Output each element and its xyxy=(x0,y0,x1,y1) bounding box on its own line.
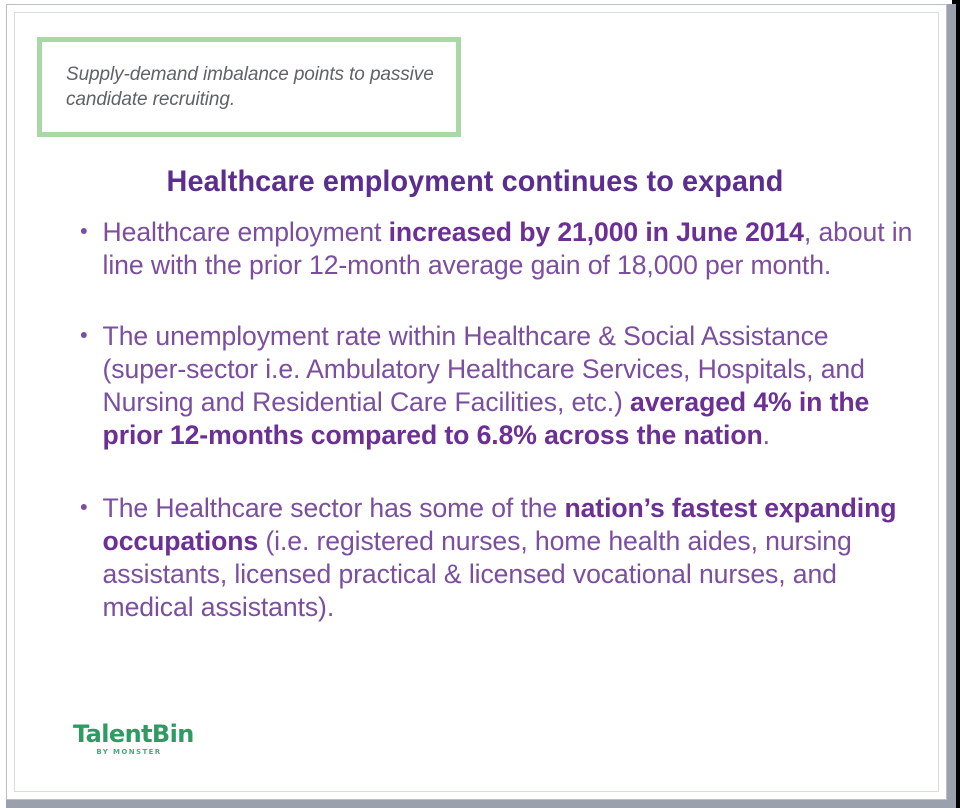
slide-left-edge xyxy=(0,0,5,808)
bullet-text-2: The unemployment rate within Healthcare … xyxy=(103,321,870,450)
bullet-marker-icon xyxy=(81,228,87,234)
logo-tagline: BY MONSTER xyxy=(73,748,185,756)
bullet-run: Healthcare employment xyxy=(103,217,389,247)
talentbin-logo: TalentBin BY MONSTER xyxy=(73,721,253,756)
page-title: Healthcare employment continues to expan… xyxy=(33,165,916,199)
bullet-text-1: Healthcare employment increased by 21,00… xyxy=(103,217,913,280)
slide-right-edge xyxy=(952,0,960,808)
list-item: The Healthcare sector has some of the na… xyxy=(73,492,915,624)
callout-text: Supply-demand imbalance points to passiv… xyxy=(42,62,456,112)
bullet-text-3: The Healthcare sector has some of the na… xyxy=(103,493,897,622)
list-item: Healthcare employment increased by 21,00… xyxy=(73,216,915,282)
bullet-run: . xyxy=(763,420,770,450)
bullet-marker-icon xyxy=(81,332,87,338)
callout-box: Supply-demand imbalance points to passiv… xyxy=(37,37,461,137)
bullet-emphasis: increased by 21,000 in June 2014 xyxy=(389,217,804,247)
bullet-run: The Healthcare sector has some of the xyxy=(103,493,565,523)
logo-wordmark: TalentBin xyxy=(73,721,253,747)
slide-frame: Supply-demand imbalance points to passiv… xyxy=(6,4,947,800)
bullet-marker-icon xyxy=(81,504,87,510)
list-item: The unemployment rate within Healthcare … xyxy=(73,320,915,452)
slide-content-area: Supply-demand imbalance points to passiv… xyxy=(14,12,939,792)
bullet-list: Healthcare employment increased by 21,00… xyxy=(73,216,928,624)
